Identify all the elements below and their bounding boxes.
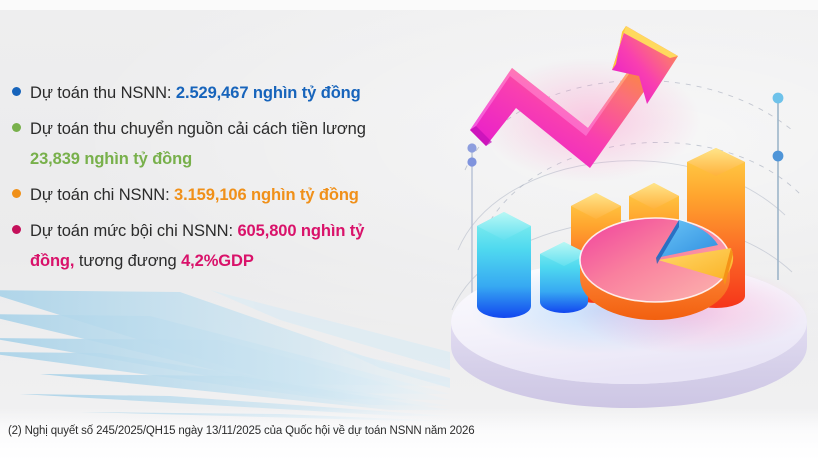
list-item-text: Dự toán thu chuyển nguồn cải cách tiền l… [30, 114, 366, 174]
label-chi-nsnn: Dự toán chi NSNN: [30, 186, 174, 204]
value-chuyen-nguon: 23,839 nghìn tỷ đồng [30, 150, 192, 168]
list-item-text: Dự toán chi NSNN: 3.159,106 nghìn tỷ đồn… [30, 180, 359, 210]
dot-left-upper [467, 143, 476, 152]
list-item: Dự toán thu NSNN: 2.529,467 nghìn tỷ đồn… [0, 78, 440, 108]
label-chuyen-nguon: Dự toán thu chuyển nguồn cải cách tiền l… [30, 120, 366, 138]
dot-right-upper [773, 93, 784, 104]
value-chi-nsnn: 3.159,106 nghìn tỷ đồng [174, 186, 359, 204]
bullet-dot-green [12, 123, 21, 132]
3d-pie-chart [580, 218, 733, 320]
list-item: Dự toán mức bội chi NSNN: 605,800 nghìn … [0, 216, 440, 276]
list-item-text: Dự toán mức bội chi NSNN: 605,800 nghìn … [30, 216, 364, 276]
zigzag-growth-arrow [470, 26, 700, 182]
footnote: (2) Nghị quyết số 245/2025/QH15 ngày 13/… [8, 425, 475, 437]
dot-left-lower [467, 157, 476, 166]
dot-right-lower [773, 151, 784, 162]
value-gdp-percent: 4,2%GDP [181, 252, 254, 270]
value-boi-chi-cont: đồng, [30, 252, 74, 270]
bullet-dot-pink [12, 225, 21, 234]
value-boi-chi: 605,800 nghìn tỷ [237, 222, 364, 240]
list-item: Dự toán chi NSNN: 3.159,106 nghìn tỷ đồn… [0, 180, 440, 210]
bullet-dot-blue [12, 87, 21, 96]
right-connector [773, 93, 784, 280]
bar-1 [477, 212, 531, 318]
value-thu-nsnn: 2.529,467 nghìn tỷ đồng [176, 84, 361, 102]
key-figures-list: Dự toán thu NSNN: 2.529,467 nghìn tỷ đồn… [0, 78, 440, 282]
label-boi-chi: Dự toán mức bội chi NSNN: [30, 222, 237, 240]
list-item-text: Dự toán thu NSNN: 2.529,467 nghìn tỷ đồn… [30, 78, 361, 108]
top-white-band [0, 0, 818, 10]
3d-growth-chart-illustration [440, 10, 818, 410]
bullet-dot-orange [12, 189, 21, 198]
label-tuong-duong: tương đương [74, 252, 181, 270]
list-item: Dự toán thu chuyển nguồn cải cách tiền l… [0, 114, 440, 174]
slide-canvas: Dự toán thu NSNN: 2.529,467 nghìn tỷ đồn… [0, 0, 818, 460]
label-thu-nsnn: Dự toán thu NSNN: [30, 84, 176, 102]
left-connector [467, 143, 476, 310]
